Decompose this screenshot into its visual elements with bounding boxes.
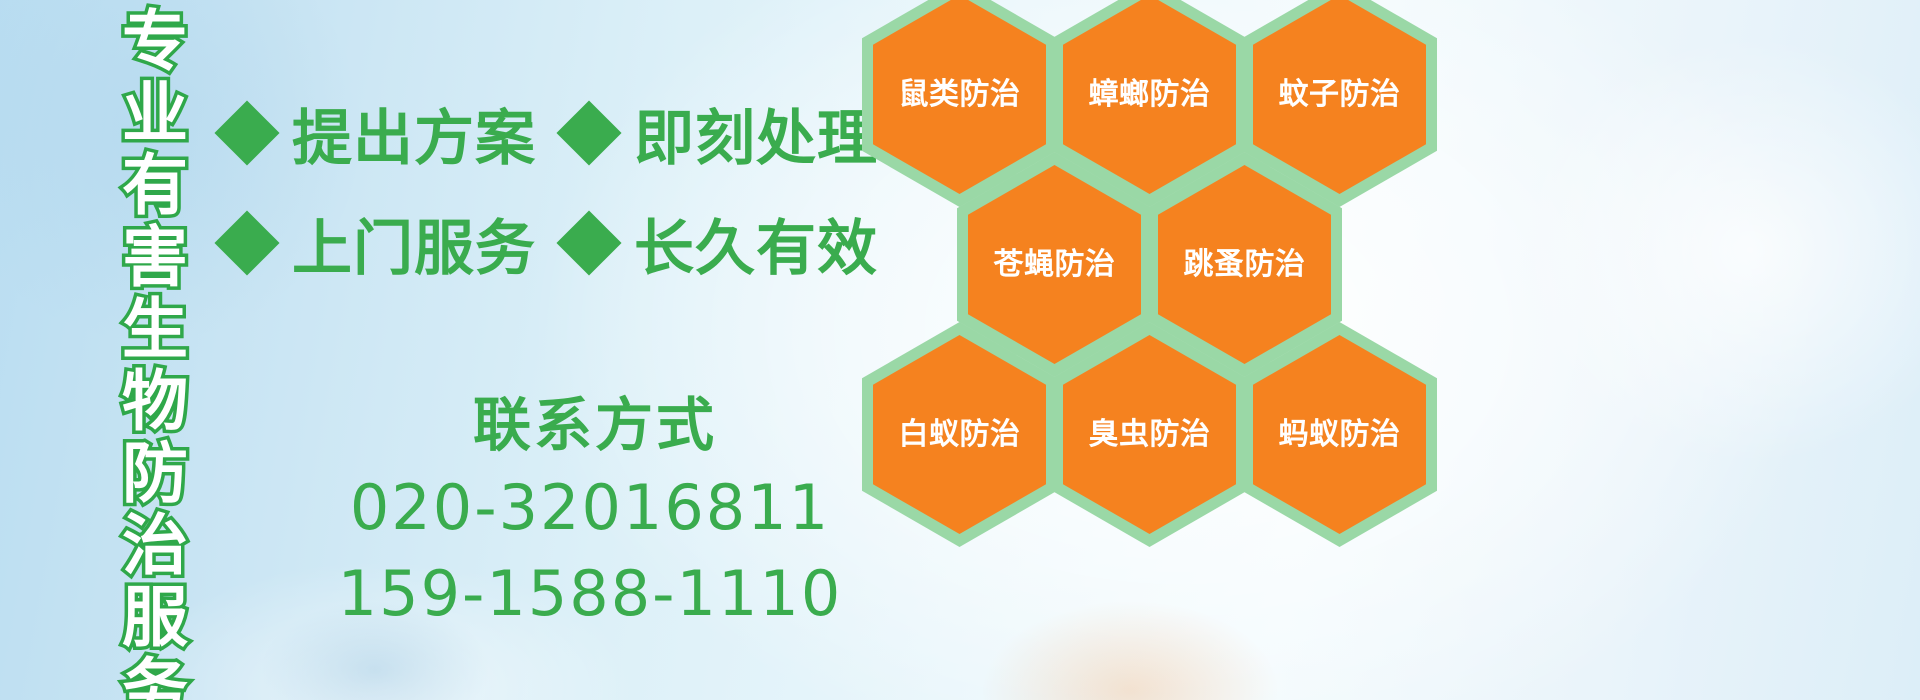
contact-heading: 联系方式 [320,385,870,465]
vertical-headline-char: 治 [122,510,188,582]
diamond-icon [556,210,621,275]
hex-label: 跳蚤防治 [1184,250,1306,280]
hex-label: 苍蝇防治 [994,250,1116,280]
feature-label: 上门服务 [292,200,536,287]
vertical-headline-char: 业 [122,78,188,150]
background-blob-bottom-center [980,600,1280,700]
feature-label: 提出方案 [292,90,536,177]
hex-inner: 臭虫防治 [1063,335,1236,534]
feature-label: 即刻处理 [634,90,878,177]
hex-label: 臭虫防治 [1089,420,1211,450]
background-glow-top-right [1520,40,1920,460]
vertical-headline-char: 物 [122,366,188,438]
vertical-headline-char: 防 [122,438,188,510]
hex-inner: 蚊子防治 [1253,0,1426,194]
contact-block: 联系方式 020-32016811 159-1588-1110 [310,385,870,637]
vertical-headline-char: 专 [122,6,188,78]
vertical-headline-char: 服 [122,582,188,654]
diamond-icon [214,100,279,165]
hex-inner: 白蚁防治 [873,335,1046,534]
feature-row: 提出方案 即刻处理 [224,78,874,188]
hex-label: 白蚁防治 [899,420,1021,450]
feature-item-onsite-service: 上门服务 [224,200,566,287]
diamond-icon [214,210,279,275]
vertical-headline-char: 害 [122,222,188,294]
contact-phone-landline[interactable]: 020-32016811 [310,465,870,551]
vertical-headline-char: 生 [122,294,188,366]
hex-label: 蟑螂防治 [1089,80,1211,110]
hex-inner: 鼠类防治 [873,0,1046,194]
feature-label: 长久有效 [634,200,878,287]
diamond-icon [556,100,621,165]
feature-item-immediate-handling: 即刻处理 [566,90,878,177]
vertical-headline: 专 业 有 害 生 物 防 治 服 务 [113,6,197,666]
vertical-headline-char: 务 [122,654,188,700]
hex-inner: 跳蚤防治 [1158,165,1331,364]
pest-control-banner: 专 业 有 害 生 物 防 治 服 务 提出方案 即刻处理 上门服务 [0,0,1920,700]
feature-item-propose-plan: 提出方案 [224,90,566,177]
feature-row: 上门服务 长久有效 [224,188,874,298]
hex-inner: 蟑螂防治 [1063,0,1236,194]
hex-label: 鼠类防治 [899,80,1021,110]
contact-phone-mobile[interactable]: 159-1588-1110 [310,551,870,637]
feature-item-long-lasting: 长久有效 [566,200,878,287]
hex-inner: 蚂蚁防治 [1253,335,1426,534]
hex-inner: 苍蝇防治 [968,165,1141,364]
vertical-headline-char: 有 [122,150,188,222]
feature-list: 提出方案 即刻处理 上门服务 长久有效 [224,78,874,298]
hex-label: 蚂蚁防治 [1279,420,1401,450]
service-hexagon-grid: 鼠类防治 蟑螂防治 蚊子防治 苍蝇防治 跳蚤防治 白蚁防治 [862,0,1482,542]
hex-label: 蚊子防治 [1279,80,1401,110]
